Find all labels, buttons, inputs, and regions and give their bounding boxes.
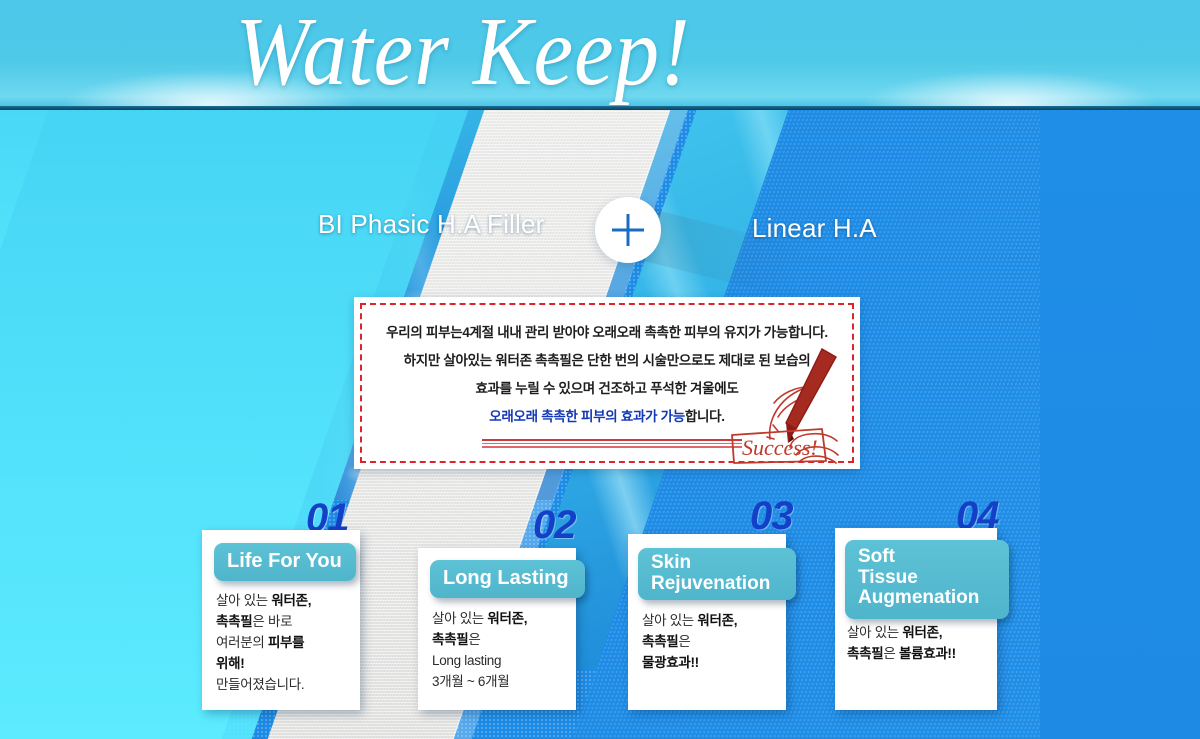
card-desc-01: 살아 있는 워터존, 촉촉필은 바로 여러분의 피부를 위해! 만들어졌습니다. — [216, 590, 356, 695]
card-badge-03: Skin Rejuvenation — [638, 548, 796, 600]
card-desc-03: 살아 있는 워터존, 촉촉필은 물광효과!! — [642, 610, 784, 673]
card-badge-02: Long Lasting — [430, 560, 585, 598]
page-header: Water Keep! — [0, 0, 1200, 110]
card-badge-04: Soft Tissue Augmenation — [845, 540, 1009, 619]
bg-right-solid-panel — [1040, 110, 1200, 739]
card-desc-02: 살아 있는 워터존, 촉촉필은 Long lasting 3개월 ~ 6개월 — [432, 608, 574, 692]
hero-right-label: Linear H.A — [752, 213, 877, 244]
card-number-02: 02 — [533, 503, 576, 548]
hand-with-pen-icon: Success! — [704, 343, 854, 465]
page-title: Water Keep! — [0, 0, 1015, 107]
feature-card-03[interactable]: Skin Rejuvenation 살아 있는 워터존, 촉촉필은 물광효과!! — [628, 534, 786, 710]
card-number-03: 03 — [750, 494, 793, 539]
plus-icon — [595, 197, 661, 263]
callout-box: 우리의 피부는4계절 내내 관리 받아야 오래오래 촉촉한 피부의 유지가 가능… — [354, 297, 860, 469]
poster-root: Water Keep! BI Phasic H.A Filler Linear … — [0, 0, 1200, 739]
feature-card-02[interactable]: Long Lasting 살아 있는 워터존, 촉촉필은 Long lastin… — [418, 548, 576, 710]
callout-emphasis: 오래오래 촉촉한 피부의 효과가 가능 — [489, 409, 685, 424]
card-desc-04: 살아 있는 워터존, 촉촉필은 볼륨효과!! — [847, 622, 997, 664]
success-stamp-text: Success! — [742, 435, 818, 460]
card-badge-01: Life For You — [214, 543, 356, 581]
feature-card-04[interactable]: Soft Tissue Augmenation 살아 있는 워터존, 촉촉필은 … — [835, 528, 997, 710]
callout-underline — [482, 439, 742, 445]
feature-card-01[interactable]: Life For You 살아 있는 워터존, 촉촉필은 바로 여러분의 피부를… — [202, 530, 360, 710]
hero-left-label: BI Phasic H.A Filler — [318, 209, 545, 240]
